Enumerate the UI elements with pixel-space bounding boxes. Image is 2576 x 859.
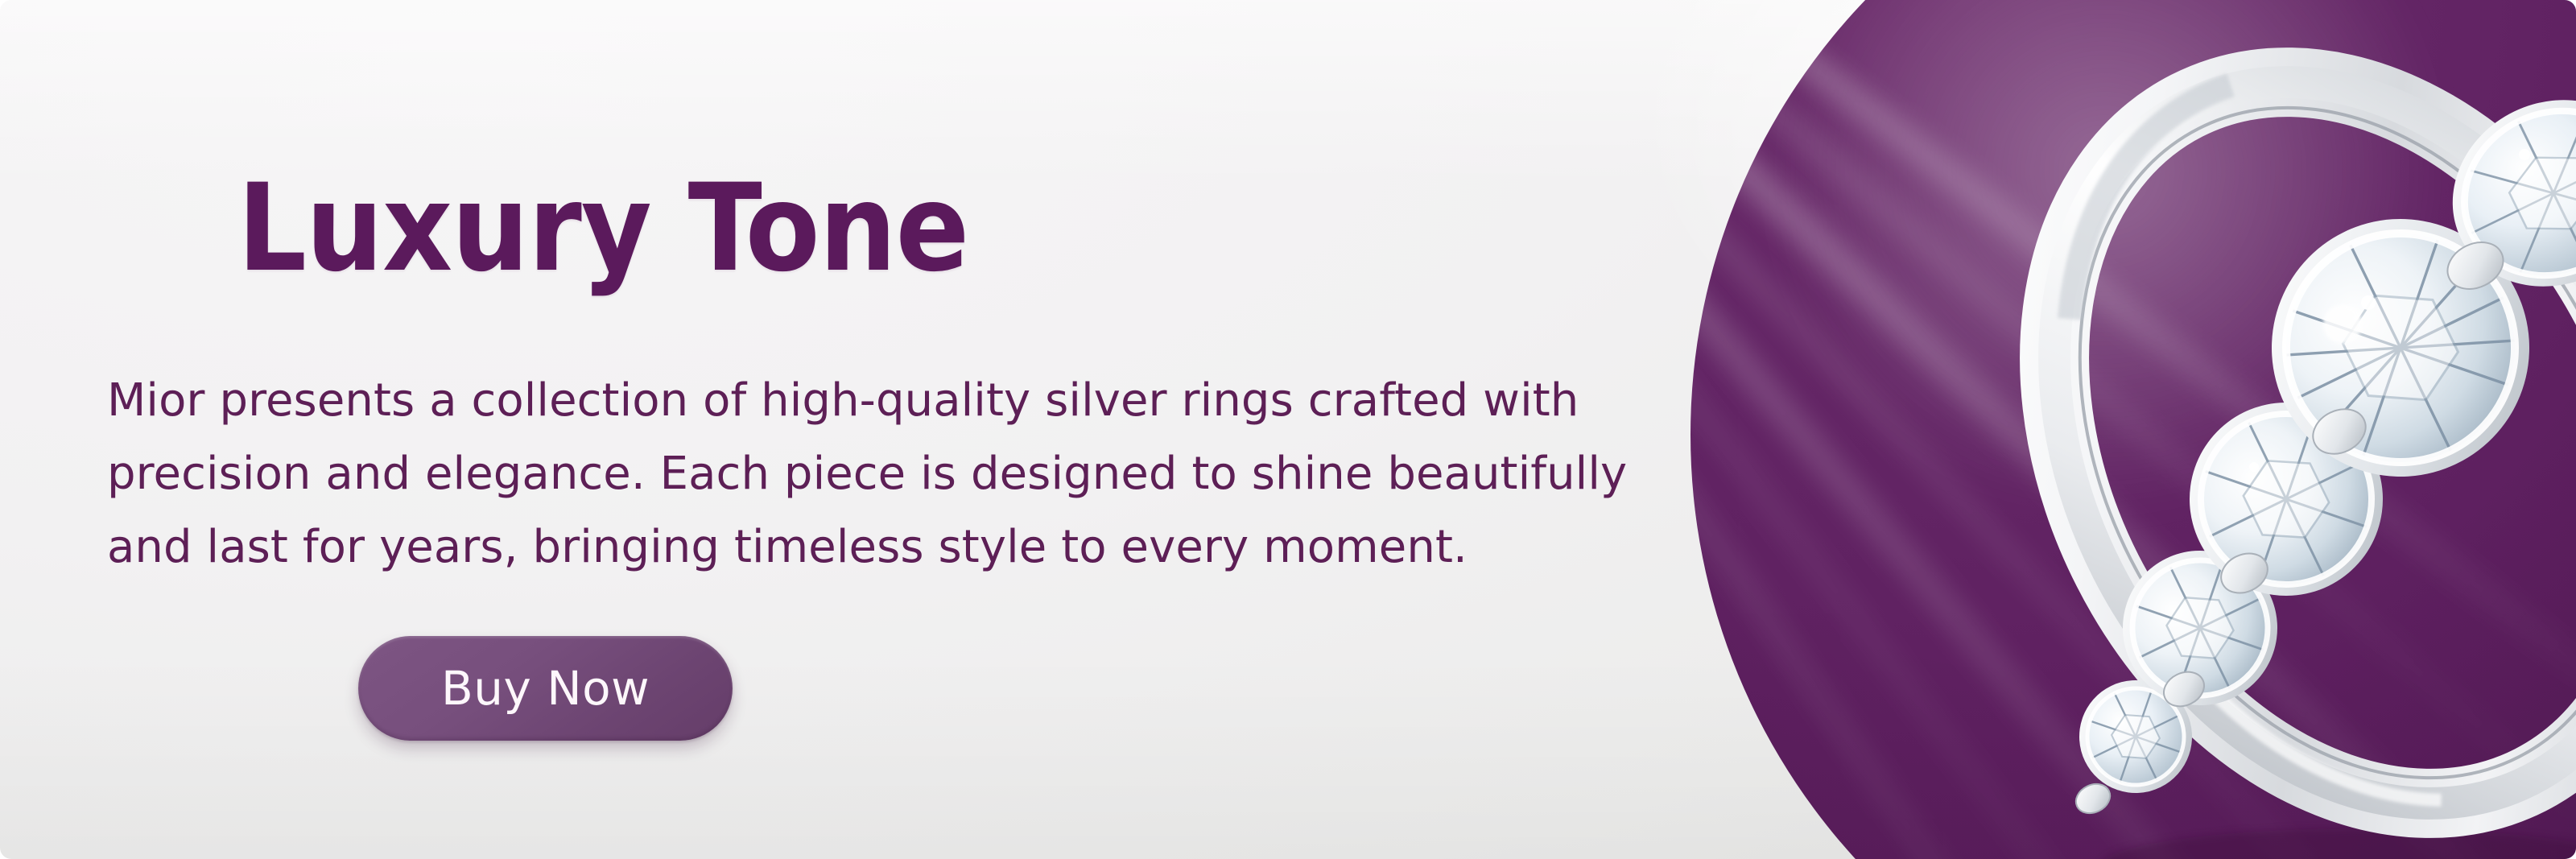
copy-block: Luxury Tone Mior presents a collection o… bbox=[0, 0, 1690, 859]
promo-banner: Luxury Tone Mior presents a collection o… bbox=[0, 0, 2576, 859]
disc-highlight bbox=[1690, 0, 2576, 661]
body-line-3: and last for years, bringing timeless st… bbox=[107, 510, 1637, 584]
body-line-1: Mior presents a collection of high-quali… bbox=[107, 364, 1637, 437]
light-rays bbox=[1690, 0, 2576, 859]
diamond-ring-illustration bbox=[1690, 0, 2576, 859]
page-title: Luxury Tone bbox=[237, 168, 968, 289]
buy-now-button[interactable]: Buy Now bbox=[358, 636, 733, 741]
body-line-2: precision and elegance. Each piece is de… bbox=[107, 437, 1637, 510]
body-paragraph: Mior presents a collection of high-quali… bbox=[107, 364, 1637, 584]
hero-disc-container bbox=[1690, 0, 2576, 859]
hero-disc bbox=[1690, 0, 2576, 859]
cta-container: Buy Now bbox=[358, 636, 733, 741]
disc-vignette bbox=[1690, 0, 2576, 859]
